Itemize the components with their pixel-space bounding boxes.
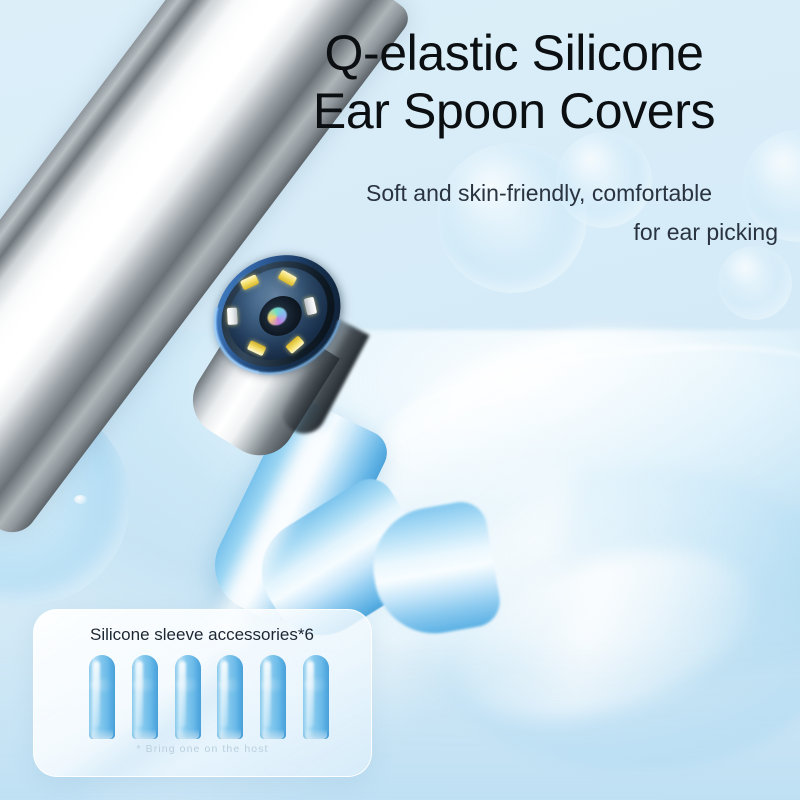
- sleeve-waist-highlight: [261, 679, 285, 691]
- silicone-sleeve-row: [89, 655, 329, 740]
- silicone-sleeve-item: [89, 655, 115, 739]
- silicone-sleeve-item: [303, 655, 329, 739]
- accessory-card-title: Silicone sleeve accessories*6: [90, 625, 314, 645]
- silicone-sleeve-item: [175, 655, 201, 739]
- sleeve-waist-highlight: [133, 679, 157, 691]
- silicone-sleeve-item: [260, 655, 286, 739]
- accessory-card-footnote: * Bring one on the host: [34, 743, 371, 755]
- silicone-sleeve-item: [217, 655, 243, 739]
- headline-line-2: Ear Spoon Covers: [250, 82, 778, 140]
- headline-line-1: Q-elastic Silicone: [324, 25, 703, 81]
- page-title: Q-elastic Silicone Ear Spoon Covers: [250, 24, 778, 140]
- sleeve-waist-highlight: [176, 679, 200, 691]
- sleeve-waist-highlight: [304, 679, 328, 691]
- sleeve-waist-highlight: [218, 679, 242, 691]
- sleeve-waist-highlight: [90, 679, 114, 691]
- subtitle-line-1: Soft and skin-friendly, comfortable: [300, 174, 778, 213]
- accessory-card: Silicone sleeve accessories*6 * Bring on…: [33, 609, 372, 777]
- silicone-sleeve-item: [132, 655, 158, 739]
- product-marketing-image: Q-elastic Silicone Ear Spoon Covers Soft…: [0, 0, 800, 800]
- page-subtitle: Soft and skin-friendly, comfortable for …: [300, 174, 778, 251]
- subtitle-line-2: for ear picking: [300, 213, 778, 252]
